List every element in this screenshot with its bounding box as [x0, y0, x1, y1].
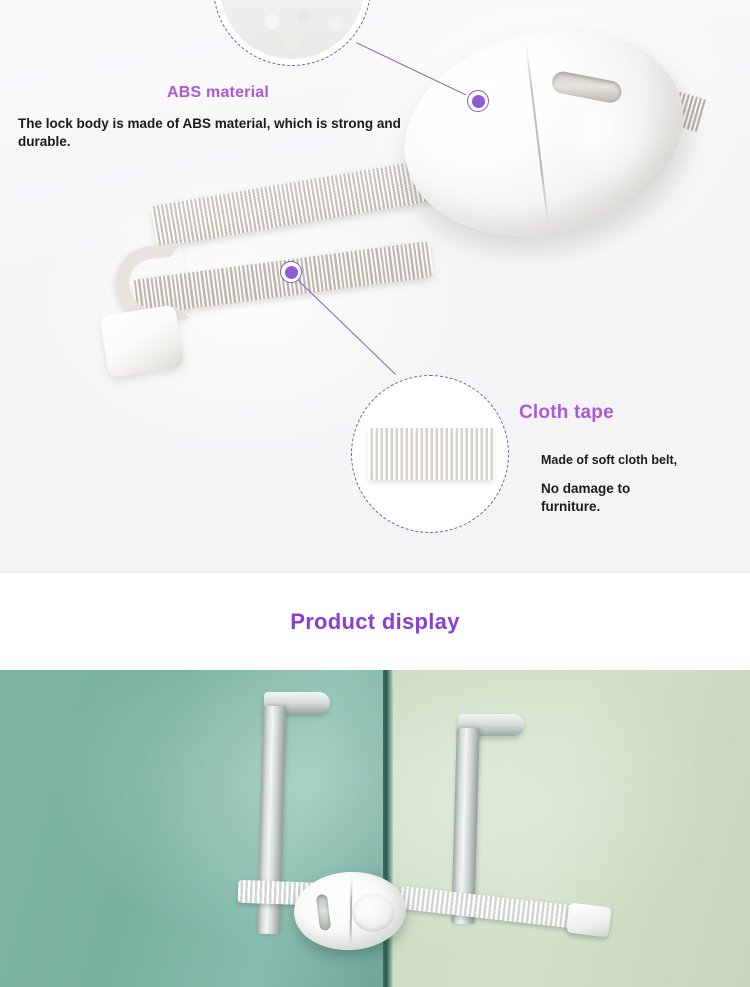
- cloth-tape-callout-marker: [280, 261, 302, 283]
- product-display-heading: Product display: [290, 609, 460, 635]
- product-display-heading-band: Product display: [0, 573, 750, 670]
- abs-material-description: The lock body is made of ABS material, w…: [18, 115, 416, 151]
- abs-callout-marker: [467, 90, 489, 112]
- cabinet-door-right: [392, 670, 750, 987]
- abs-material-title: ABS material: [167, 84, 269, 102]
- cloth-tape-title: Cloth tape: [519, 402, 614, 424]
- strap-end-tip: [100, 304, 185, 377]
- marker-dot-icon: [285, 266, 298, 279]
- feature-callout-section: ABS material The lock body is made of AB…: [0, 0, 750, 573]
- lock-seam-line: [525, 43, 549, 226]
- cloth-tape-detail-circle: [351, 375, 509, 533]
- marker-dot-icon: [472, 95, 485, 108]
- installed-strap-tip: [566, 903, 611, 938]
- product-infographic-page: ABS material The lock body is made of AB…: [0, 0, 750, 987]
- installed-lock-thumb-dome: [351, 893, 395, 933]
- woven-tape-texture: [368, 428, 494, 480]
- cloth-tape-description-line-2: No damage to furniture.: [541, 480, 691, 516]
- cloth-tape-description-line-1: Made of soft cloth belt,: [541, 452, 741, 469]
- installed-lock-release-slot: [315, 894, 330, 931]
